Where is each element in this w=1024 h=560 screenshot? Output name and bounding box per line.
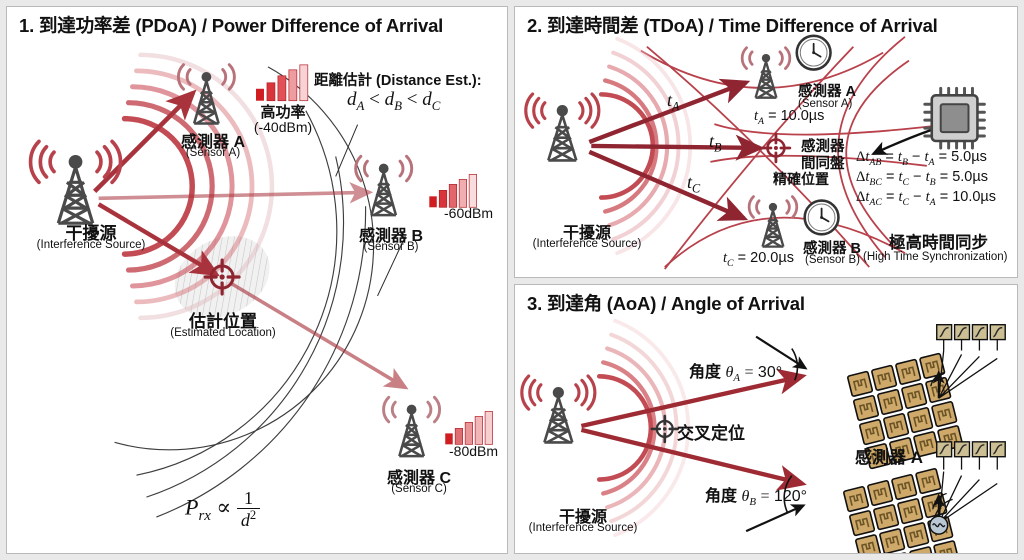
pdoa-distance-title: 距離估計 (Distance Est.): — [314, 69, 482, 90]
aoa-angle-b-label: 角度 θB = 120° — [705, 482, 807, 508]
pdoa-sensor-c-sublabel: (Sensor C) — [391, 483, 447, 495]
clock-icon-sensor-b — [805, 201, 839, 235]
tdoa-tb-label: tB — [709, 131, 722, 156]
tdoa-sensor-b-sublabel: (Sensor B) — [805, 254, 860, 266]
aoa-source-sublabel: (Interference Source) — [529, 522, 638, 534]
tdoa-precise-label: 精確位置 — [773, 169, 829, 189]
panel-aoa: 3. 到達角 (AoA) / Angle of Arrival — [514, 284, 1018, 554]
tdoa-tower-sensor-b — [749, 197, 797, 247]
pdoa-source-sublabel: (Interference Source) — [37, 239, 146, 251]
tdoa-formula-ab: ΔtAB = tB − tA = 5.0µs — [856, 149, 987, 168]
clock-icon-sensor-a — [797, 36, 831, 70]
arrow-tb — [591, 146, 760, 148]
pdoa-sensor-b-sublabel: (Sensor B) — [364, 241, 419, 253]
tdoa-high-sync-label: 極高時間同步 — [889, 229, 988, 253]
tdoa-high-sync-sublabel: (High Time Synchronization) — [863, 251, 1007, 263]
signal-bars-sensor-a — [256, 65, 308, 101]
pdoa-estimated-sublabel: (Estimated Location) — [170, 327, 275, 339]
tower-sensor-c — [384, 397, 440, 456]
tdoa-ta-label: tA — [667, 90, 680, 115]
tdoa-ta-value: tA = 10.0µs — [754, 108, 824, 127]
pdoa-distance-formula: dA < dB < dC — [347, 89, 440, 114]
pdoa-path-loss-formula: Prx ∝ 1 d2 — [185, 489, 260, 530]
signal-bars-sensor-c — [445, 411, 492, 444]
tdoa-tower-interference-source — [526, 94, 599, 160]
pdoa-power-a-value: (-40dBm) — [254, 119, 312, 135]
tdoa-formula-ac: ΔtAC = tC − tA = 10.0µs — [856, 189, 996, 208]
aoa-cross-fix-label: 交叉定位 — [677, 419, 745, 444]
aoa-angle-a-label: 角度 θA = 30° — [689, 358, 782, 384]
tdoa-tower-sensor-a — [742, 48, 790, 98]
antenna-array-sensor-b — [843, 468, 959, 553]
angle-arc-a — [792, 349, 798, 381]
signal-bars-sensor-b — [429, 174, 476, 207]
tdoa-source-sublabel: (Interference Source) — [533, 238, 642, 250]
phase-shifters-a — [937, 325, 1005, 340]
tdoa-tc-label: tC — [687, 172, 700, 197]
tdoa-formula-bc: ΔtBC = tC − tB = 5.0µs — [856, 169, 988, 188]
panel-pdoa: 1. 到達功率差 (PDoA) / Power Difference of Ar… — [6, 6, 508, 554]
pdoa-power-b-value: -60dBm — [444, 205, 493, 221]
chip-icon — [925, 88, 985, 148]
aoa-sensor-a-label: 感測器 A — [855, 443, 923, 468]
panel-tdoa: 2. 到達時間差 (TDoA) / Time Difference of Arr… — [514, 6, 1018, 278]
pdoa-power-c-value: -80dBm — [449, 443, 498, 459]
phase-shifters-b — [937, 442, 1005, 457]
tdoa-tc-value: tC = 20.0µs — [723, 250, 794, 269]
pdoa-sensor-a-sublabel: (Sensor A) — [186, 147, 240, 159]
